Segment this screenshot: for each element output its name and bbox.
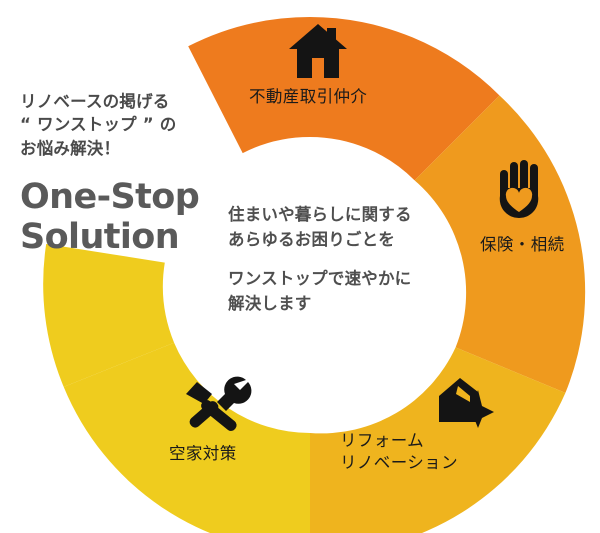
lead-line-2: “ ワンストップ ” の [20,113,230,136]
segment-label-reform-line2: リノベーション [340,452,458,474]
page-title-line2: Solution [20,218,230,258]
house-icon [287,22,349,84]
center-description: 住まいや暮らしに関する あらゆるお困りごとを ワンストップで速やかに 解決します [228,202,458,316]
page-title: One-Stop Solution [20,178,230,258]
house-sparkle-icon [434,372,496,432]
segment-label-reform: リフォーム リノベーション [340,430,458,475]
center-para2-line2: 解決します [228,291,458,316]
headline-block: リノベースの掲げる “ ワンストップ ” の お悩み解決！ One-Stop S… [20,90,230,258]
infographic-canvas: 不動産取引仲介 保険・相続 リフォーム リノベーション 空家対策 リノベースの掲… [0,0,600,533]
center-para2-line1: ワンストップで速やかに [228,266,458,291]
hammer-wrench-icon [180,372,252,438]
center-para1-line1: 住まいや暮らしに関する [228,202,458,227]
segment-label-akiya: 空家対策 [169,443,237,465]
lead-line-1: リノベースの掲げる [20,90,230,113]
center-para1-line2: あらゆるお困りごとを [228,227,458,252]
segment-label-insurance: 保険・相続 [480,234,565,256]
hand-heart-icon [497,158,547,224]
page-title-line1: One-Stop [20,178,230,218]
lead-line-3: お悩み解決！ [20,137,230,160]
segment-label-reform-line1: リフォーム [340,430,458,452]
segment-label-realestate: 不動産取引仲介 [249,86,367,108]
